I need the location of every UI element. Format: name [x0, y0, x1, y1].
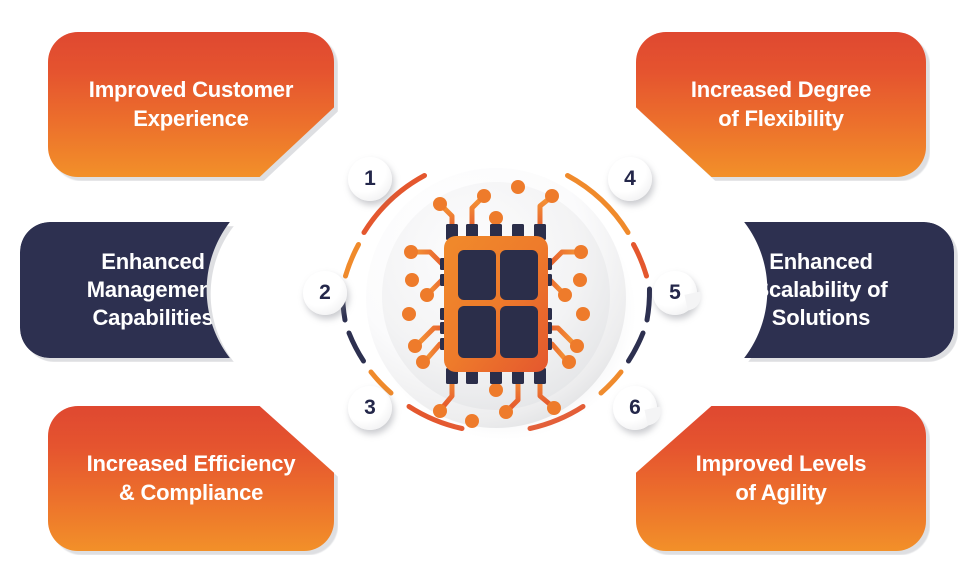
card-increased-efficiency-compliance[interactable]: Increased Efficiency & Compliance — [48, 406, 334, 551]
card-label: Improved Levels of Agility — [696, 450, 867, 506]
card-line-1: Improved Customer — [89, 76, 293, 104]
card-line-3: Solutions — [755, 304, 888, 332]
badge-6[interactable]: 6 — [613, 386, 657, 430]
badge-number: 4 — [624, 167, 636, 191]
badge-number: 3 — [364, 396, 376, 420]
card-line-1: Enhanced — [87, 248, 219, 276]
badge-number: 6 — [629, 396, 641, 420]
card-label: Enhanced Management Capabilities — [87, 248, 219, 332]
card-line-2: & Compliance — [87, 479, 296, 507]
card-line-3: Capabilities — [87, 304, 219, 332]
card-line-1: Improved Levels — [696, 450, 867, 478]
card-line-2: of Agility — [696, 479, 867, 507]
badge-number: 5 — [669, 281, 681, 305]
card-label: Enhanced Scalability of Solutions — [755, 248, 888, 332]
card-line-2: of Flexibility — [691, 105, 871, 133]
card-enhanced-management-capabilities[interactable]: Enhanced Management Capabilities — [20, 222, 286, 358]
card-line-1: Enhanced — [755, 248, 888, 276]
badge-3[interactable]: 3 — [348, 386, 392, 430]
infographic-canvas: Improved Customer Experience Enhanced Ma… — [0, 0, 980, 584]
badge-2[interactable]: 2 — [303, 271, 347, 315]
card-label: Increased Efficiency & Compliance — [87, 450, 296, 506]
card-line-2: Scalability of — [755, 276, 888, 304]
card-line-2: Experience — [89, 105, 293, 133]
card-label: Improved Customer Experience — [89, 76, 293, 132]
badge-1[interactable]: 1 — [348, 157, 392, 201]
badge-number: 1 — [364, 167, 376, 191]
card-enhanced-scalability-of-solutions[interactable]: Enhanced Scalability of Solutions — [688, 222, 954, 358]
card-line-1: Increased Degree — [691, 76, 871, 104]
card-line-1: Increased Efficiency — [87, 450, 296, 478]
badge-5[interactable]: 5 — [653, 271, 697, 315]
card-line-2: Management — [87, 276, 219, 304]
card-label: Increased Degree of Flexibility — [691, 76, 871, 132]
badge-number: 2 — [319, 281, 331, 305]
badge-4[interactable]: 4 — [608, 157, 652, 201]
